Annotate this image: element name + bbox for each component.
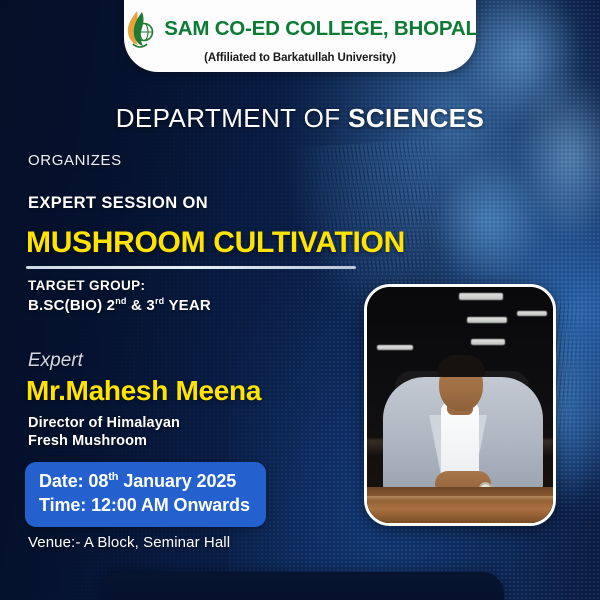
wooden-desk bbox=[367, 487, 553, 523]
target-post: YEAR bbox=[164, 297, 211, 314]
expert-name: Mr.Mahesh Meena bbox=[26, 375, 261, 407]
target-pre: B.SC(BIO) 2 bbox=[28, 297, 115, 314]
topic-title: MUSHROOM CULTIVATION bbox=[26, 226, 405, 260]
speaker-photo bbox=[367, 287, 553, 523]
session-on-label: EXPERT SESSION ON bbox=[28, 194, 208, 213]
expert-designation: Director of HimalayanFresh Mushroom bbox=[28, 414, 180, 450]
organizes-label: ORGANIZES bbox=[28, 152, 122, 169]
ceiling-light bbox=[459, 293, 503, 300]
page-title: DEPARTMENT OF SCIENCES bbox=[0, 103, 600, 134]
target-group-value: B.SC(BIO) 2nd & 3rd YEAR bbox=[28, 296, 211, 314]
department-prefix: DEPARTMENT OF bbox=[116, 103, 348, 133]
college-header-banner: SAM CO-ED COLLEGE, BHOPAL (Affiliated to… bbox=[124, 0, 476, 72]
affiliation-text: (Affiliated to Barkatullah University) bbox=[204, 52, 396, 64]
target-sup-rd: rd bbox=[155, 296, 164, 306]
leaf-globe-flame-logo-icon bbox=[122, 9, 156, 49]
date-post: January 2025 bbox=[118, 471, 236, 491]
ceiling-light bbox=[377, 345, 413, 350]
date-sup-th: th bbox=[108, 471, 118, 483]
expert-designation-line1: Director of Himalayan bbox=[28, 415, 180, 431]
desk-highlight bbox=[367, 496, 553, 501]
expert-label: Expert bbox=[28, 350, 83, 372]
target-mid: & 3 bbox=[127, 297, 155, 314]
target-group-label: TARGET GROUP: bbox=[28, 278, 145, 293]
date-pre: Date: 08 bbox=[39, 471, 108, 491]
time-line: Time: 12:00 AM Onwards bbox=[39, 494, 250, 518]
ceiling-light bbox=[471, 339, 505, 345]
target-sup-nd: nd bbox=[115, 296, 126, 306]
college-name: SAM CO-ED COLLEGE, BHOPAL bbox=[164, 17, 478, 41]
venue-text: Venue:- A Block, Seminar Hall bbox=[28, 534, 230, 551]
bottom-panel bbox=[100, 572, 504, 600]
ceiling-light bbox=[467, 317, 507, 323]
department-strong: SCIENCES bbox=[348, 103, 484, 133]
ceiling-light bbox=[517, 311, 547, 316]
expert-designation-line2: Fresh Mushroom bbox=[28, 433, 147, 449]
speaker-photo-frame bbox=[364, 284, 556, 526]
date-line: Date: 08th January 2025 bbox=[39, 470, 250, 494]
event-poster: SAM CO-ED COLLEGE, BHOPAL (Affiliated to… bbox=[0, 0, 600, 600]
speaker-hair bbox=[437, 355, 485, 377]
date-time-badge: Date: 08th January 2025 Time: 12:00 AM O… bbox=[25, 462, 266, 527]
topic-divider bbox=[26, 266, 356, 269]
college-identity-row: SAM CO-ED COLLEGE, BHOPAL bbox=[122, 9, 478, 49]
